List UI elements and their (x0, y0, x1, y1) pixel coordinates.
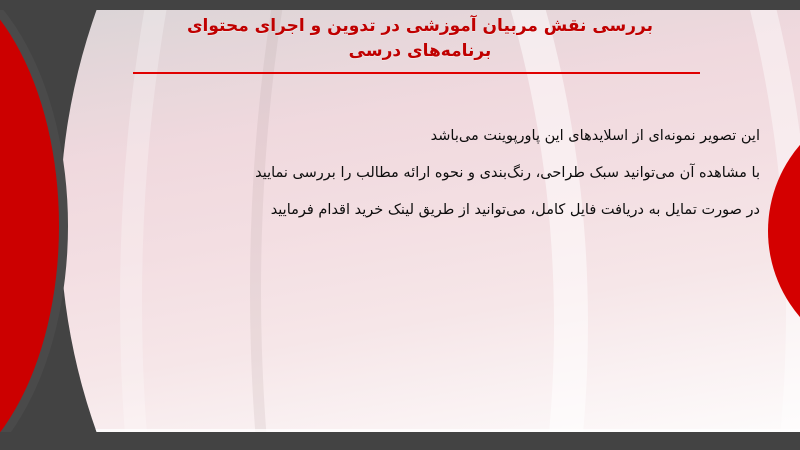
slide-frame-bottom (0, 432, 800, 450)
slide-title: بررسی نقش مربیان آموزشی در تدوین و اجرای… (120, 14, 720, 63)
slide-title-line-2: برنامه‌های درسی (120, 39, 720, 64)
powerpoint-slide: بررسی نقش مربیان آموزشی در تدوین و اجرای… (0, 0, 800, 450)
title-underline-rule (133, 72, 700, 74)
body-line-1: این تصویر نمونه‌ای از اسلایدهای این پاور… (80, 118, 760, 155)
slide-frame-top (0, 0, 800, 10)
slide-body-text: این تصویر نمونه‌ای از اسلایدهای این پاور… (80, 118, 760, 229)
body-line-3: در صورت تمایل به دریافت فایل کامل، می‌تو… (80, 192, 760, 229)
body-line-2: با مشاهده آن می‌توانید سبک طراحی، رنگ‌بن… (80, 155, 760, 192)
slide-title-line-1: بررسی نقش مربیان آموزشی در تدوین و اجرای… (120, 14, 720, 39)
red-ellipse-left-rim (0, 0, 68, 450)
